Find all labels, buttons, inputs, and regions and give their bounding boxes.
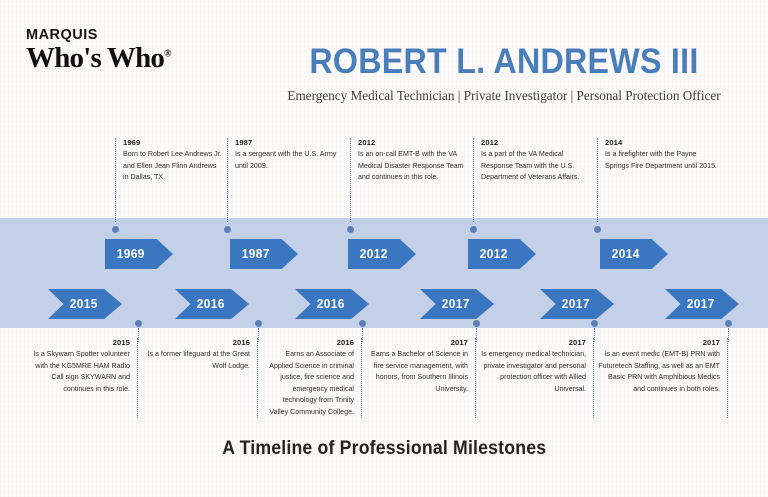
timeline-entry-bottom: 2017Is an event medic (EMT-B) PRN with F…	[598, 338, 728, 418]
chevron-year-label: 1969	[117, 247, 145, 261]
timeline-entry-top: 2012Is an on-call EMT-B with the VA Medi…	[350, 138, 470, 220]
connector-dot-bottom	[135, 320, 142, 327]
entry-description: Is a firefighter with the Payne Springs …	[605, 149, 717, 172]
logo-line-whoswho: Who's Who®	[26, 44, 216, 74]
timeline-entry-top: 1969Born to Robert Lee Andrews Jr. and E…	[115, 138, 223, 220]
entry-description: Is emergency medical technician, private…	[478, 349, 586, 395]
entry-year: 2017	[598, 338, 720, 347]
chevron-year-label: 2017	[562, 297, 590, 311]
connector-dot-top	[470, 226, 477, 233]
chevron-year-label: 2012	[480, 247, 508, 261]
infographic-poster: MARQUIS Who's Who® ROBERT L. ANDREWS III…	[0, 0, 768, 497]
entry-description: Earns an Associate of Applied Science in…	[262, 349, 354, 418]
entry-description: Is an on-call EMT-B with the VA Medical …	[358, 149, 470, 183]
timeline-entry-top: 1987Is a sergeant with the U.S. Army unt…	[227, 138, 345, 220]
connector-dot-top	[347, 226, 354, 233]
entry-description: Born to Robert Lee Andrews Jr. and Ellen…	[123, 149, 223, 183]
entry-year: 2012	[481, 138, 593, 147]
entry-year: 2017	[478, 338, 586, 347]
timeline-band	[0, 218, 768, 328]
marquis-whoswho-logo: MARQUIS Who's Who®	[26, 28, 216, 73]
connector-line-bottom	[138, 328, 140, 342]
footer-caption-block: A Timeline of Professional Milestones	[0, 438, 768, 460]
entry-year: 2016	[140, 338, 250, 347]
entry-year: 2012	[358, 138, 470, 147]
timeline-entry-bottom: 2015Is a Skywarn Spotter volunteer with …	[22, 338, 138, 418]
entry-year: 1987	[235, 138, 345, 147]
connector-line-bottom	[476, 328, 478, 342]
entry-year: 1969	[123, 138, 223, 147]
timeline-entry-bottom: 2016Is a former lifeguard at the Great W…	[140, 338, 258, 418]
connector-line-top	[350, 196, 352, 222]
chevron-year-label: 2015	[70, 297, 98, 311]
connector-line-top	[227, 196, 229, 222]
connector-line-bottom	[728, 328, 730, 342]
registered-trademark-icon: ®	[164, 48, 171, 59]
timeline-entry-bottom: 2017Earns a Bachelor of Science in fire …	[360, 338, 476, 418]
connector-dot-top	[594, 226, 601, 233]
entry-description: Earns a Bachelor of Science in fire serv…	[360, 349, 468, 395]
connector-dot-bottom	[473, 320, 480, 327]
logo-whoswho-text: Who's Who	[26, 42, 164, 74]
connector-dot-bottom	[255, 320, 262, 327]
chevron-year-label: 2016	[317, 297, 345, 311]
entry-year: 2016	[262, 338, 354, 347]
connector-line-bottom	[258, 328, 260, 342]
connector-line-top	[115, 196, 117, 222]
connector-line-top	[473, 196, 475, 222]
entry-description: Is a Skywarn Spotter volunteer with the …	[22, 349, 130, 395]
timeline-bottom-entries: 2015Is a Skywarn Spotter volunteer with …	[0, 338, 768, 418]
timeline-entry-bottom: 2017Is emergency medical technician, pri…	[478, 338, 594, 418]
chevron-year-label: 1987	[242, 247, 270, 261]
page-title-block: ROBERT L. ANDREWS III Emergency Medical …	[260, 44, 748, 104]
entry-description: Is a sergeant with the U.S. Army until 2…	[235, 149, 345, 172]
connector-dot-top	[112, 226, 119, 233]
connector-dot-bottom	[359, 320, 366, 327]
chevron-year-label: 2017	[687, 297, 715, 311]
entry-description: Is a part of the VA Medical Response Tea…	[481, 149, 593, 183]
timeline-entry-bottom: 2016Earns an Associate of Applied Scienc…	[262, 338, 362, 418]
connector-line-bottom	[594, 328, 596, 342]
chevron-year-label: 2012	[360, 247, 388, 261]
footer-caption: A Timeline of Professional Milestones	[222, 438, 546, 460]
entry-year: 2015	[22, 338, 130, 347]
connector-dot-bottom	[591, 320, 598, 327]
timeline-entry-top: 2012Is a part of the VA Medical Response…	[473, 138, 593, 220]
entry-description: Is an event medic (EMT-B) PRN with Futur…	[598, 349, 720, 395]
entry-year: 2014	[605, 138, 717, 147]
chevron-year-label: 2014	[612, 247, 640, 261]
entry-year: 2017	[360, 338, 468, 347]
chevron-year-label: 2016	[197, 297, 225, 311]
connector-line-bottom	[362, 328, 364, 342]
page-subtitle: Emergency Medical Technician | Private I…	[260, 88, 748, 104]
connector-dot-top	[224, 226, 231, 233]
timeline-entry-top: 2014Is a firefighter with the Payne Spri…	[597, 138, 717, 220]
logo-line-marquis: MARQUIS	[26, 28, 216, 43]
entry-description: Is a former lifeguard at the Great Wolf …	[140, 349, 250, 372]
page-title: ROBERT L. ANDREWS III	[280, 44, 729, 79]
connector-line-top	[597, 196, 599, 222]
chevron-year-label: 2017	[442, 297, 470, 311]
connector-dot-bottom	[725, 320, 732, 327]
